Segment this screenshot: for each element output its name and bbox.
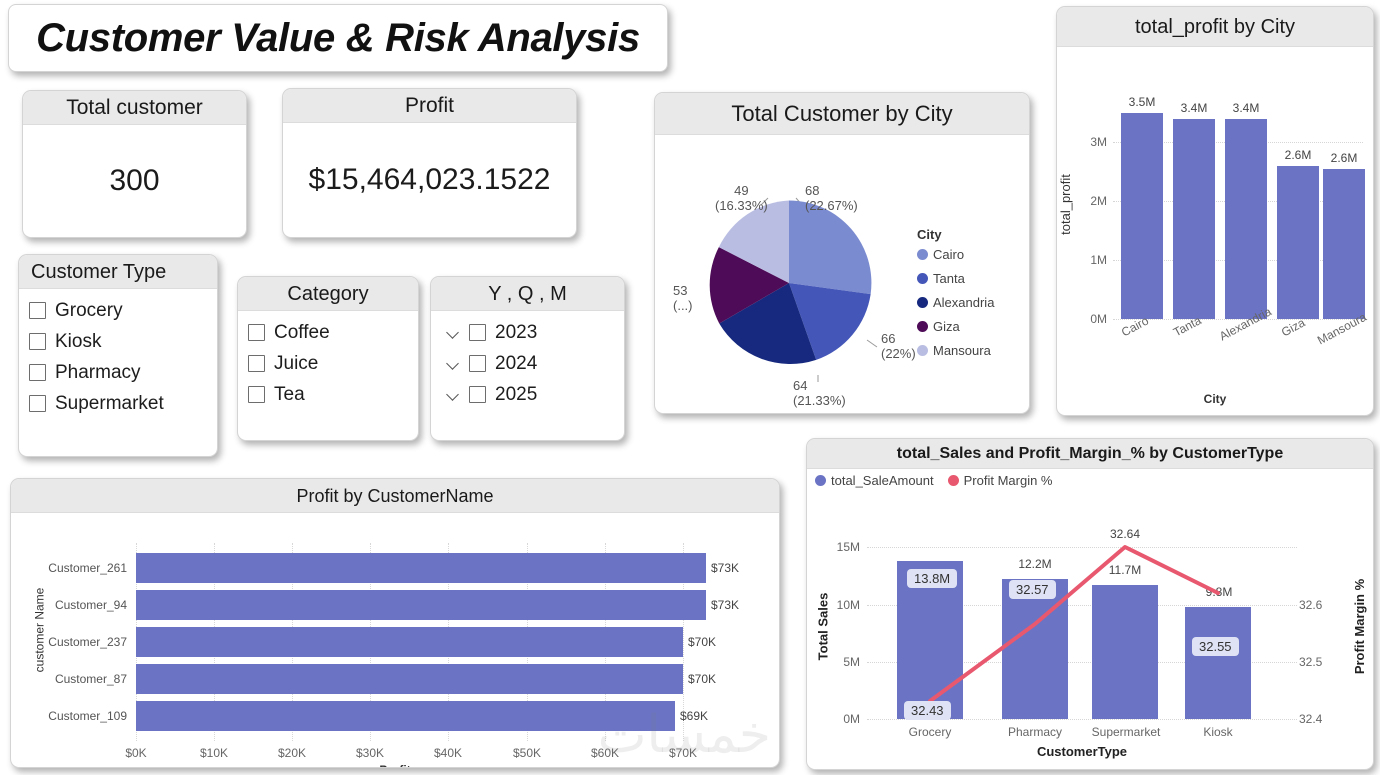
hbar-value-customer-109: $69K <box>680 709 708 723</box>
column-value-cairo: 3.5M <box>1117 95 1167 109</box>
column-ytick-2: 2M <box>1063 194 1107 208</box>
combo-bar-value-supermarket: 11.7M <box>1095 563 1155 577</box>
hbar-xtick-3: $30K <box>340 746 400 760</box>
hbar-customer-109[interactable] <box>136 701 675 731</box>
legend-label: total_SaleAmount <box>831 473 934 488</box>
combo-chart-title: total_Sales and Profit_Margin_% by Custo… <box>807 439 1373 469</box>
hbar-value-customer-94: $73K <box>711 598 739 612</box>
column-chart-title: total_profit by City <box>1057 7 1373 47</box>
legend-swatch-icon <box>917 321 928 332</box>
pie-label-mansoura: 49 (16.33%) <box>715 183 768 213</box>
page-title: Customer Value & Risk Analysis <box>36 16 640 61</box>
kpi-total-customer-label: Total customer <box>23 91 246 125</box>
hbar-cat-customer-237: Customer_237 <box>11 635 127 649</box>
pie-label-cairo: 68 (22.67%) <box>805 183 858 213</box>
combo-ytick-2: 10M <box>815 598 860 612</box>
combo-line-value-pharmacy: 32.57 <box>1009 580 1056 599</box>
chart-total-profit-by-city[interactable]: total_profit by City total_profit 0M 1M … <box>1056 6 1374 416</box>
legend-item-alexandria[interactable]: Alexandria <box>917 295 994 310</box>
chevron-down-icon[interactable] <box>447 388 460 401</box>
combo-line-value-supermarket: 32.64 <box>1095 527 1155 541</box>
legend-swatch-icon <box>917 345 928 356</box>
hbar-xtick-2: $20K <box>262 746 322 760</box>
legend-swatch-icon <box>917 297 928 308</box>
column-ytick-0: 0M <box>1063 312 1107 326</box>
legend-label: Profit Margin % <box>964 473 1053 488</box>
checkbox-icon[interactable] <box>469 386 486 403</box>
combo-xtick-kiosk: Kiosk <box>1178 725 1258 739</box>
column-chart-xaxis-title: City <box>1057 392 1373 406</box>
slicer-category-list: Coffee Juice Tea <box>238 311 418 410</box>
slicer-item-coffee[interactable]: Coffee <box>248 317 418 348</box>
slicer-category-title: Category <box>238 277 418 311</box>
legend-label: Alexandria <box>933 295 994 310</box>
slicer-item-pharmacy[interactable]: Pharmacy <box>29 357 217 388</box>
slicer-item-2025[interactable]: 2025 <box>447 379 624 410</box>
hbar-customer-237[interactable] <box>136 627 683 657</box>
slicer-customer-type-list: Grocery Kiosk Pharmacy Supermarket <box>19 289 217 419</box>
slicer-item-label: Coffee <box>274 322 330 344</box>
combo-legend: total_SaleAmount Profit Margin % <box>815 473 1053 488</box>
hbar-xtick-6: $60K <box>575 746 635 760</box>
hbar-xtick-5: $50K <box>497 746 557 760</box>
combo-xtick-pharmacy: Pharmacy <box>995 725 1075 739</box>
slicer-item-label: Tea <box>274 384 305 406</box>
combo-ytick-0: 0M <box>815 712 860 726</box>
checkbox-icon[interactable] <box>29 333 46 350</box>
pie-slices <box>703 197 875 369</box>
column-value-tanta: 3.4M <box>1169 101 1219 115</box>
hbar-chart-plot: customer Name Customer_261 Customer_94 C… <box>11 513 779 767</box>
checkbox-icon[interactable] <box>29 364 46 381</box>
hbar-value-customer-237: $70K <box>688 635 716 649</box>
combo-bar-pharmacy[interactable] <box>1002 579 1068 719</box>
combo-bar-value-kiosk: 9.8M <box>1189 585 1249 599</box>
chart-profit-by-customername[interactable]: Profit by CustomerName customer Name Cus… <box>10 478 780 768</box>
pie-label-giza: 53 (...) <box>673 283 693 313</box>
combo-line-series <box>807 469 1374 769</box>
slicer-item-label: Juice <box>274 353 318 375</box>
column-bar-giza[interactable] <box>1277 166 1319 319</box>
column-bar-cairo[interactable] <box>1121 113 1163 319</box>
slicer-item-label: 2023 <box>495 322 537 344</box>
hbar-cat-customer-94: Customer_94 <box>11 598 127 612</box>
column-bar-mansoura[interactable] <box>1323 169 1365 319</box>
hbar-customer-87[interactable] <box>136 664 683 694</box>
legend-label: Cairo <box>933 247 964 262</box>
combo-y2tick-0: 32.4 <box>1299 712 1344 726</box>
kpi-card-total-customer[interactable]: Total customer 300 <box>22 90 247 238</box>
combo-chart-y2axis-title: Profit Margin % <box>1352 579 1367 674</box>
slicer-item-kiosk[interactable]: Kiosk <box>29 326 217 357</box>
legend-label: Tanta <box>933 271 965 286</box>
chart-total-customer-by-city[interactable]: Total Customer by City <box>654 92 1030 414</box>
legend-swatch-icon <box>815 475 826 486</box>
combo-bar-value-grocery: 13.8M <box>907 569 957 588</box>
hbar-chart-xaxis-title: Profit <box>11 763 779 768</box>
slicer-year-quarter-month[interactable]: Y , Q , M 2023 2024 2025 <box>430 276 625 441</box>
pie-graphic <box>703 197 875 369</box>
legend-label: Giza <box>933 319 960 334</box>
column-value-giza: 2.6M <box>1273 148 1323 162</box>
legend-item-giza[interactable]: Giza <box>917 319 994 334</box>
legend-swatch-icon <box>948 475 959 486</box>
slicer-yqm-title: Y , Q , M <box>431 277 624 311</box>
legend-item-profit-margin[interactable]: Profit Margin % <box>948 473 1053 488</box>
column-ytick-3: 3M <box>1063 135 1107 149</box>
combo-xtick-grocery: Grocery <box>890 725 970 739</box>
column-value-alexandria: 3.4M <box>1221 101 1271 115</box>
slicer-customer-type[interactable]: Customer Type Grocery Kiosk Pharmacy Sup… <box>18 254 218 457</box>
kpi-total-customer-value: 300 <box>23 125 246 237</box>
pie-label-tanta: 66 (22%) <box>881 331 916 361</box>
slicer-item-label: 2025 <box>495 384 537 406</box>
dashboard-canvas: Customer Value & Risk Analysis Total cus… <box>0 0 1380 775</box>
checkbox-icon[interactable] <box>248 386 265 403</box>
chevron-down-icon[interactable] <box>447 357 460 370</box>
combo-xtick-supermarket: Supermarket <box>1080 725 1172 739</box>
slicer-item-tea[interactable]: Tea <box>248 379 418 410</box>
slicer-yqm-list: 2023 2024 2025 <box>431 311 624 410</box>
slicer-item-supermarket[interactable]: Supermarket <box>29 388 217 419</box>
combo-chart-plot: total_SaleAmount Profit Margin % Total S… <box>807 469 1373 769</box>
slicer-item-label: Supermarket <box>55 393 164 415</box>
slicer-item-label: Pharmacy <box>55 362 141 384</box>
hbar-xtick-4: $40K <box>418 746 478 760</box>
slicer-item-grocery[interactable]: Grocery <box>29 295 217 326</box>
checkbox-icon[interactable] <box>248 355 265 372</box>
column-value-mansoura: 2.6M <box>1319 151 1369 165</box>
column-ytick-1: 1M <box>1063 253 1107 267</box>
report-title-banner: Customer Value & Risk Analysis <box>8 4 668 72</box>
pie-chart-title: Total Customer by City <box>655 93 1029 135</box>
slicer-item-label: Kiosk <box>55 331 101 353</box>
checkbox-icon[interactable] <box>469 355 486 372</box>
hbar-customer-94[interactable] <box>136 590 706 620</box>
legend-item-total-saleamount[interactable]: total_SaleAmount <box>815 473 934 488</box>
hbar-cat-customer-109: Customer_109 <box>11 709 127 723</box>
checkbox-icon[interactable] <box>469 324 486 341</box>
kpi-profit-label: Profit <box>283 89 576 123</box>
kpi-card-profit[interactable]: Profit $15,464,023.1522 <box>282 88 577 238</box>
combo-ytick-1: 5M <box>815 655 860 669</box>
slicer-item-label: 2024 <box>495 353 537 375</box>
checkbox-icon[interactable] <box>29 302 46 319</box>
combo-chart-xaxis-title: CustomerType <box>957 744 1207 759</box>
checkbox-icon[interactable] <box>29 395 46 412</box>
legend-label: Mansoura <box>933 343 991 358</box>
hbar-xtick-1: $10K <box>184 746 244 760</box>
slicer-category[interactable]: Category Coffee Juice Tea <box>237 276 419 441</box>
combo-bar-supermarket[interactable] <box>1092 585 1158 719</box>
legend-item-tanta[interactable]: Tanta <box>917 271 994 286</box>
combo-bar-value-pharmacy: 12.2M <box>1005 557 1065 571</box>
pie-label-alexandria: 64 (21.33%) <box>793 378 846 408</box>
legend-swatch-icon <box>917 273 928 284</box>
legend-item-cairo[interactable]: Cairo <box>917 247 994 262</box>
slicer-item-label: Grocery <box>55 300 123 322</box>
slicer-item-2024[interactable]: 2024 <box>447 348 624 379</box>
slicer-item-juice[interactable]: Juice <box>248 348 418 379</box>
hbar-cat-customer-261: Customer_261 <box>11 561 127 575</box>
slicer-item-2023[interactable]: 2023 <box>447 317 624 348</box>
chart-sales-and-margin-by-customertype[interactable]: total_Sales and Profit_Margin_% by Custo… <box>806 438 1374 770</box>
combo-line-value-grocery: 32.43 <box>904 701 951 720</box>
pie-legend-title: City <box>917 227 994 242</box>
combo-bar-kiosk[interactable] <box>1185 607 1251 719</box>
checkbox-icon[interactable] <box>248 324 265 341</box>
hbar-xtick-0: $0K <box>106 746 166 760</box>
combo-y2tick-1: 32.5 <box>1299 655 1344 669</box>
combo-ytick-3: 15M <box>815 540 860 554</box>
hbar-value-customer-261: $73K <box>711 561 739 575</box>
hbar-chart-title: Profit by CustomerName <box>11 479 779 513</box>
legend-item-mansoura[interactable]: Mansoura <box>917 343 994 358</box>
column-chart-plot: total_profit 0M 1M 2M 3M 3.5M 3.4M 3.4M … <box>1057 47 1373 413</box>
combo-y2tick-2: 32.6 <box>1299 598 1344 612</box>
hbar-value-customer-87: $70K <box>688 672 716 686</box>
slicer-customer-type-title: Customer Type <box>19 255 217 289</box>
legend-swatch-icon <box>917 249 928 260</box>
pie-slice-cairo[interactable] <box>789 200 871 294</box>
chevron-down-icon[interactable] <box>447 326 460 339</box>
hbar-xtick-7: $70K <box>653 746 713 760</box>
column-bar-alexandria[interactable] <box>1225 119 1267 319</box>
hbar-customer-261[interactable] <box>136 553 706 583</box>
combo-line-value-kiosk: 32.55 <box>1192 637 1239 656</box>
pie-legend: City Cairo Tanta Alexandria Giza <box>917 227 994 367</box>
hbar-cat-customer-87: Customer_87 <box>11 672 127 686</box>
pie-chart-plot: 68 (22.67%) 66 (22%) 64 (21.33%) 53 (...… <box>655 135 1029 413</box>
column-bar-tanta[interactable] <box>1173 119 1215 319</box>
kpi-profit-value: $15,464,023.1522 <box>283 123 576 237</box>
